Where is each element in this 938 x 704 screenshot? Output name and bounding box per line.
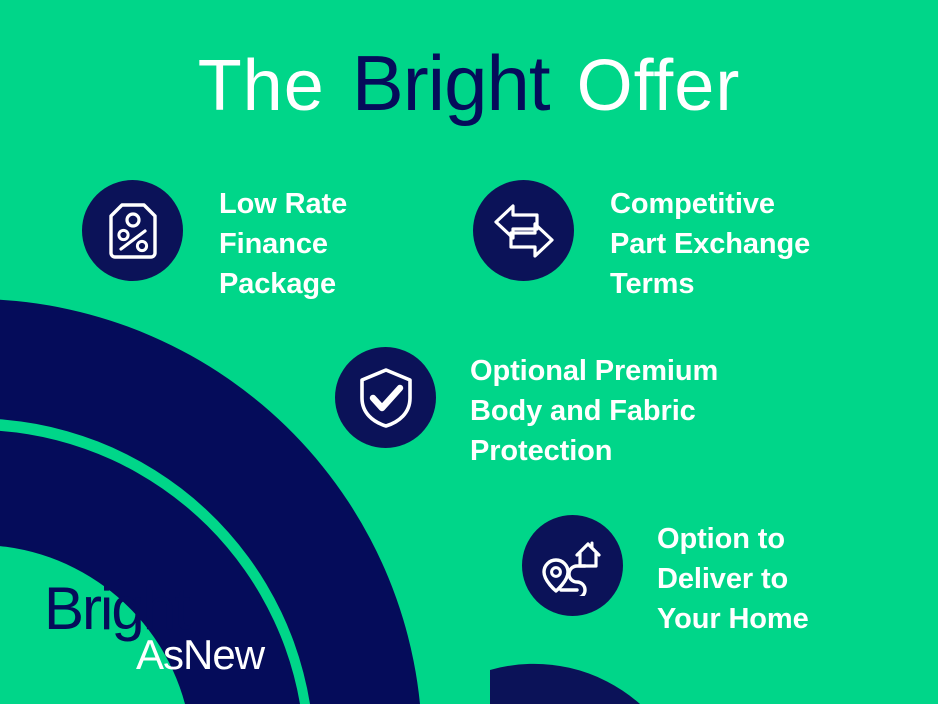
feature-low-rate-finance: Low Rate Finance Package (82, 180, 347, 304)
feature-home-delivery: Option to Deliver to Your Home (522, 515, 809, 639)
badge-circle-delivery (522, 515, 623, 616)
headline-suffix: Offer (577, 46, 741, 126)
headline-prefix: The (198, 46, 325, 126)
badge-circle-finance (82, 180, 183, 281)
shield-check-icon (357, 367, 415, 429)
feature-label-finance: Low Rate Finance Package (219, 180, 347, 304)
feature-label-exchange: Competitive Part Exchange Terms (610, 180, 810, 304)
logo-secondary-text: AsNew (136, 631, 266, 678)
navy-arc-accent (490, 664, 640, 704)
feature-label-protection: Optional Premium Body and Fabric Protect… (470, 347, 718, 471)
brightasnew-logo[interactable]: Bright AsNew (44, 577, 304, 682)
price-tag-percent-icon (105, 201, 161, 261)
promo-graphic: The Bright Offer Low Rate Finance Packag… (0, 0, 938, 704)
badge-circle-protection (335, 347, 436, 448)
exchange-arrows-icon (493, 202, 555, 260)
page-title: The Bright Offer (0, 44, 938, 122)
feature-part-exchange: Competitive Part Exchange Terms (473, 180, 810, 304)
logo-artwork: Bright AsNew (44, 577, 304, 682)
headline-brand-wordmark: Bright (346, 39, 556, 127)
badge-circle-exchange (473, 180, 574, 281)
feature-body-fabric-protection: Optional Premium Body and Fabric Protect… (335, 347, 718, 471)
feature-label-delivery: Option to Deliver to Your Home (657, 515, 809, 639)
map-pin-route-house-icon (541, 536, 605, 596)
